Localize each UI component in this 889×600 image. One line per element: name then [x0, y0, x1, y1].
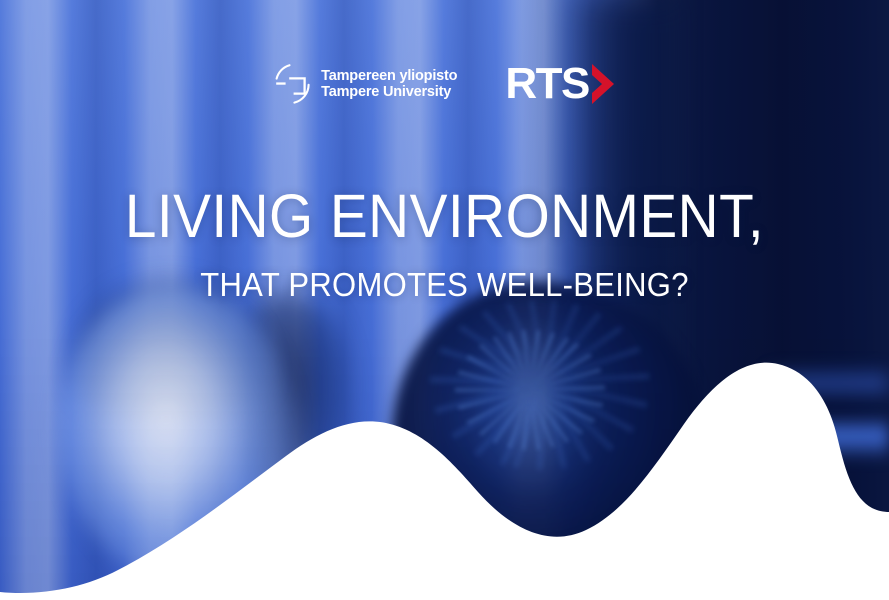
tampere-university-logo: Tampereen yliopisto Tampere University	[273, 62, 457, 106]
presentation-slide: Tampereen yliopisto Tampere University R…	[0, 0, 889, 600]
tampere-wordmark-line-en: Tampere University	[321, 84, 457, 100]
slide-subtitle: THAT PROMOTES WELL-BEING?	[27, 268, 863, 301]
logo-bar: Tampereen yliopisto Tampere University R…	[0, 62, 889, 106]
tampere-university-wordmark: Tampereen yliopisto Tampere University	[321, 68, 457, 100]
tampere-wordmark-line-fi: Tampereen yliopisto	[321, 68, 457, 84]
slide-title: LIVING ENVIRONMENT,	[31, 186, 858, 247]
rts-chevron-icon	[590, 63, 616, 105]
tampere-university-mark-icon	[273, 62, 313, 106]
headline-block: LIVING ENVIRONMENT, THAT PROMOTES WELL-B…	[0, 186, 889, 301]
rts-logo: RTS	[505, 62, 616, 106]
rts-wordmark: RTS	[505, 62, 589, 106]
